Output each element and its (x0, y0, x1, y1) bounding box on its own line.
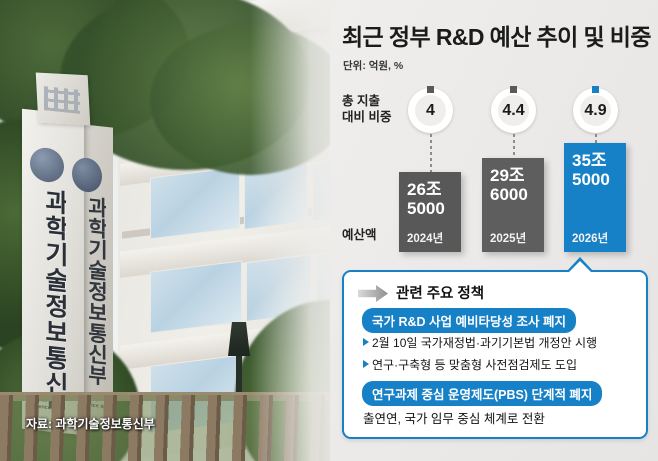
policy-bullet-1: 2월 10일 국가재정법·과기기본법 개정안 시행 (363, 334, 597, 351)
connector-dotted-2025 (513, 134, 515, 158)
triangle-bullet-icon (363, 338, 369, 346)
axis-label-ratio-line2: 대비 비중 (342, 110, 391, 126)
bar-value-2025-line1: 29조 (490, 166, 528, 185)
bar-value-2024: 26조 5000 (407, 180, 445, 218)
arrow-right-icon (358, 285, 388, 302)
bar-2026: 35조 5000 2026년 (564, 143, 626, 252)
ratio-value-2026: 4.9 (580, 95, 611, 126)
bar-year-2025: 2025년 (490, 230, 526, 246)
ratio-circle-2025: 4.4 (491, 88, 536, 133)
bar-value-2025: 29조 6000 (490, 166, 528, 204)
ratio-value-2024: 4 (415, 95, 446, 126)
bar-2024: 26조 5000 2024년 (399, 172, 461, 252)
bar-2025: 29조 6000 2025년 (482, 158, 544, 252)
policy-bullet-2-text: 연구·구축형 등 맞춤형 사전점검제도 도입 (372, 358, 577, 372)
bar-value-2024-line2: 5000 (407, 199, 445, 218)
axis-label-ratio-line1: 총 지출 (342, 94, 391, 110)
bar-value-2024-line1: 26조 (407, 180, 445, 199)
policy-pill-2: 연구과제 중심 운영제도(PBS) 단계적 폐지 (362, 381, 602, 406)
unit-note: 단위: 억원, % (343, 58, 403, 73)
infographic-root: 과학기술정보통신부 과학기술정보통신부 Ministry of Science … (0, 0, 658, 461)
sign-cap-pattern (44, 86, 80, 114)
window-pane (150, 166, 240, 239)
ratio-value-2025: 4.4 (498, 95, 529, 126)
policy-bullet-2: 연구·구축형 등 맞춤형 사전점검제도 도입 (363, 356, 577, 373)
axis-label-ratio: 총 지출 대비 비중 (342, 94, 391, 125)
bar-value-2026: 35조 5000 (572, 151, 610, 189)
policy-note-2: 출연연, 국가 임무 중심 체계로 전환 (363, 408, 545, 427)
bar-year-2024: 2024년 (407, 230, 443, 246)
ratio-marker-2024 (427, 86, 434, 93)
policy-pill-1: 국가 R&D 사업 예비타당성 조사 폐지 (362, 308, 576, 333)
ratio-circle-2026: 4.9 (573, 88, 618, 133)
connector-dotted-2024 (430, 134, 432, 172)
source-attribution: 자료: 과학기술정보통신부 (26, 415, 155, 432)
callout-heading: 관련 주요 정책 (396, 282, 484, 303)
triangle-bullet-icon (363, 360, 369, 368)
window-pane (150, 260, 242, 333)
policy-bullet-1-text: 2월 10일 국가재정법·과기기본법 개정안 시행 (372, 336, 597, 350)
bar-value-2026-line2: 5000 (572, 170, 610, 189)
chart-panel: 최근 정부 R&D 예산 추이 및 비중 단위: 억원, % 총 지출 대비 비… (330, 0, 658, 461)
ratio-marker-2025 (510, 86, 517, 93)
ratio-marker-2026 (592, 86, 599, 93)
callout-pointer-fill (568, 261, 592, 273)
sign-text-front: 과학기술정보통신부 (26, 186, 66, 410)
ratio-circle-2024: 4 (408, 88, 453, 133)
bar-year-2026: 2026년 (572, 230, 608, 246)
policy-callout-box: 관련 주요 정책 국가 R&D 사업 예비타당성 조사 폐지 2월 10일 국가… (342, 270, 648, 439)
bar-value-2025-line2: 6000 (490, 185, 528, 204)
bar-value-2026-line1: 35조 (572, 151, 610, 170)
axis-label-amount: 예산액 (342, 228, 377, 244)
sign-text-side: 과학기술정보통신부 (80, 195, 106, 408)
page-title: 최근 정부 R&D 예산 추이 및 비중 (342, 18, 651, 52)
